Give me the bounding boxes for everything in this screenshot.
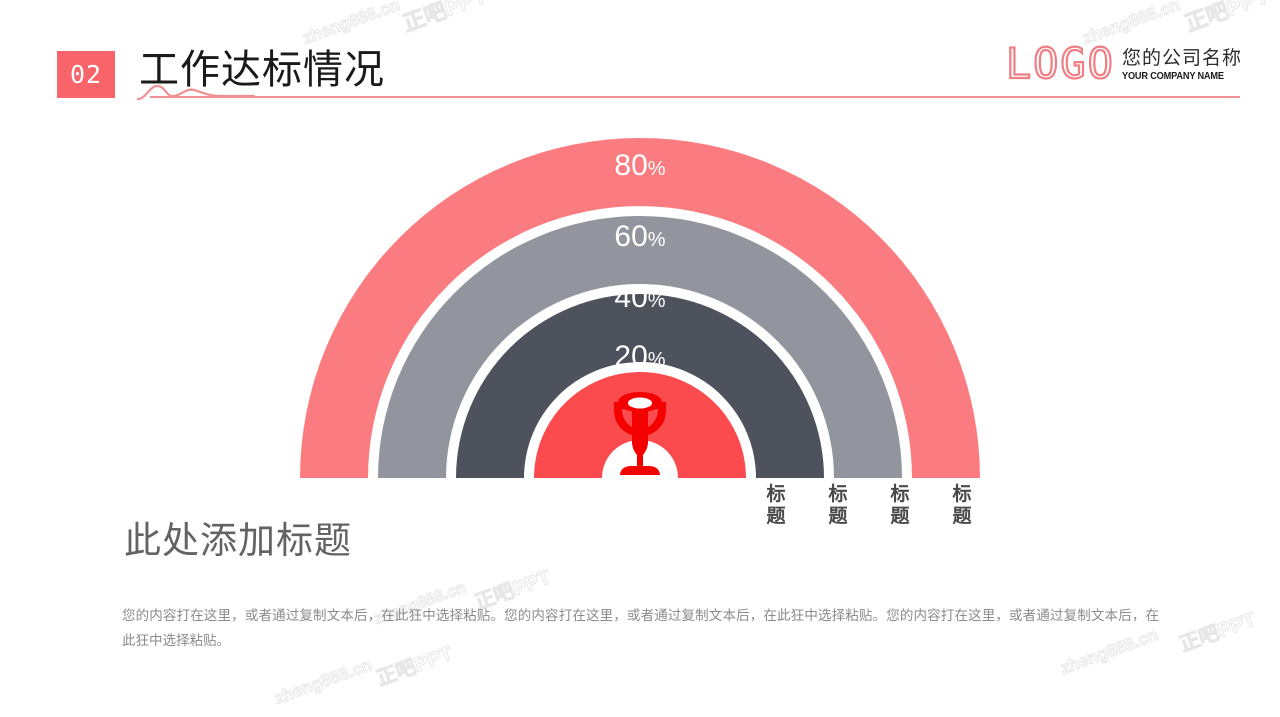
header-divider bbox=[150, 96, 1240, 98]
section-title: 此处添加标题 bbox=[124, 517, 352, 565]
arc-chart-svg: 80% 60% 40% 20% bbox=[290, 128, 990, 488]
arc-label-80-number: 80 bbox=[614, 149, 647, 182]
squiggle-underline-icon bbox=[136, 79, 256, 103]
category-label-1-char-1: 标 bbox=[745, 484, 807, 506]
arc-label-20-percent: % bbox=[648, 349, 666, 371]
category-label-1[interactable]: 标 题 bbox=[745, 484, 807, 544]
category-label-2-char-2: 题 bbox=[807, 506, 869, 528]
logo-mark: LOGO bbox=[1006, 43, 1115, 85]
section-number-badge: 02 bbox=[57, 51, 115, 98]
watermark-text: zheng888.cn bbox=[272, 655, 375, 709]
arc-label-80-percent: % bbox=[648, 158, 666, 180]
category-label-row: 标 题 标 题 标 题 标 题 bbox=[745, 484, 995, 544]
arc-gauge-chart: 80% 60% 40% 20% bbox=[290, 128, 990, 488]
arc-label-20-number: 20 bbox=[614, 340, 647, 373]
category-label-2-char-1: 标 bbox=[807, 484, 869, 506]
arc-label-40-percent: % bbox=[648, 290, 666, 312]
watermark-text: 正吧PPT bbox=[1175, 603, 1259, 657]
category-label-3-char-2: 题 bbox=[869, 506, 931, 528]
company-name-cn: 您的公司名称 bbox=[1122, 47, 1242, 70]
arc-label-40: 40% bbox=[614, 281, 665, 314]
category-label-4-char-1: 标 bbox=[931, 484, 993, 506]
company-name-en: YOUR COMPANY NAME bbox=[1122, 70, 1232, 84]
arc-label-60-percent: % bbox=[648, 229, 666, 251]
arc-label-40-number: 40 bbox=[614, 281, 647, 314]
category-label-4-char-2: 题 bbox=[931, 506, 993, 528]
body-paragraph: 您的内容打在这里，或者通过复制文本后，在此狂中选择粘贴。您的内容打在这里，或者通… bbox=[122, 603, 1159, 653]
company-logo: LOGO 您的公司名称 YOUR COMPANY NAME bbox=[1006, 45, 1242, 85]
category-label-1-char-2: 题 bbox=[745, 506, 807, 528]
category-label-2[interactable]: 标 题 bbox=[807, 484, 869, 544]
arc-label-60-number: 60 bbox=[614, 220, 647, 253]
category-label-3-char-1: 标 bbox=[869, 484, 931, 506]
page-header: 02 工作达标情况 LOGO 您的公司名称 YOUR COMPANY NAME bbox=[0, 0, 1280, 110]
category-label-4[interactable]: 标 题 bbox=[931, 484, 993, 544]
category-label-3[interactable]: 标 题 bbox=[869, 484, 931, 544]
